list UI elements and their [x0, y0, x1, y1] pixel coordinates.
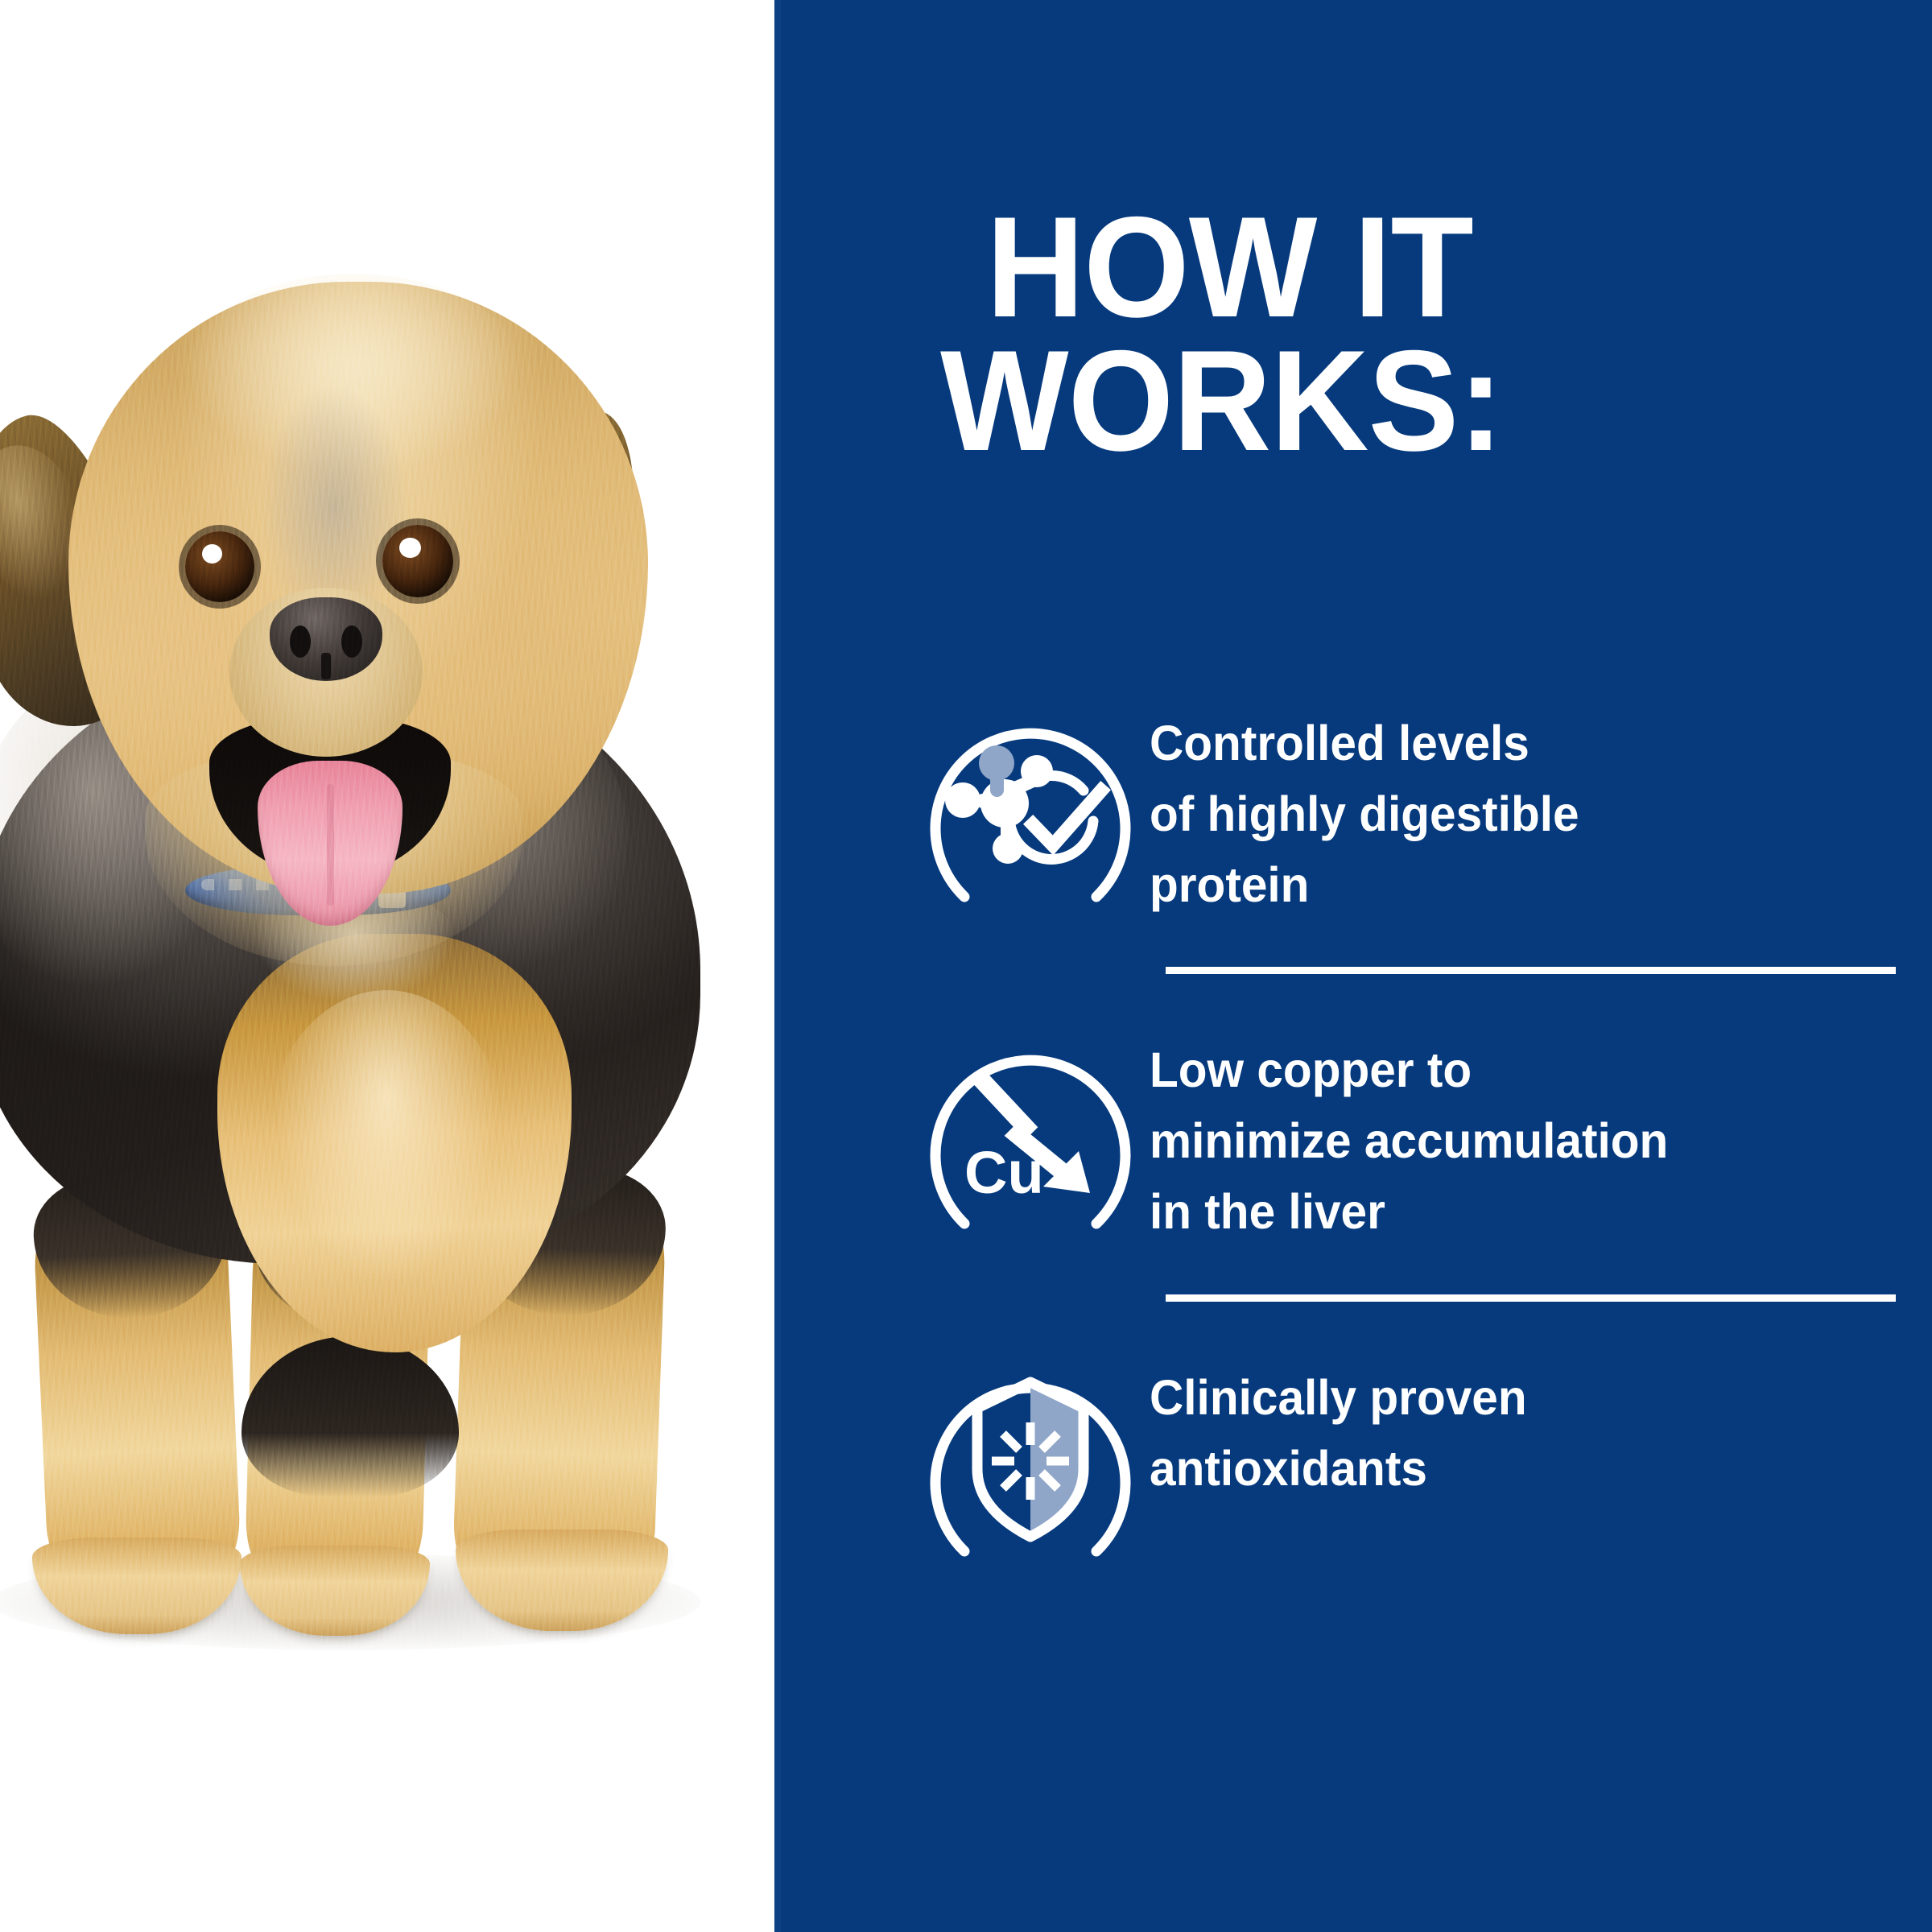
feature-line: minimize accumulation — [1150, 1113, 1668, 1168]
dog-fur-texture — [0, 266, 774, 1843]
page-title: HOW IT WORKS: — [986, 203, 1751, 465]
feature-divider-1 — [1166, 967, 1896, 974]
feature-line: protein — [1150, 857, 1309, 912]
headline-line-1: HOW IT — [986, 203, 1751, 332]
dog-photo-panel — [0, 0, 774, 1932]
feature-text-antioxidants: Clinically proven antioxidants — [1150, 1348, 1877, 1505]
feature-text-protein: Controlled levels of highly digestible p… — [1150, 694, 1877, 920]
feature-line: of highly digestible — [1150, 786, 1579, 841]
copper-down-arrow-icon: Cu — [918, 1021, 1143, 1246]
feature-item-copper: Cu Low copper to minimize accumulation i… — [918, 1021, 1908, 1247]
feature-list: Controlled levels of highly digestible p… — [918, 694, 1908, 1574]
feature-line: antioxidants — [1150, 1441, 1427, 1496]
feature-divider-2 — [1166, 1294, 1896, 1302]
headline-line-2: WORKS: — [940, 336, 1751, 465]
shield-burst-icon — [918, 1348, 1143, 1574]
feature-line: Low copper to — [1150, 1042, 1472, 1097]
feature-line: in the liver — [1150, 1184, 1385, 1239]
svg-text:Cu: Cu — [964, 1139, 1044, 1206]
feature-item-antioxidants: Clinically proven antioxidants — [918, 1348, 1908, 1574]
feature-line: Controlled levels — [1150, 716, 1529, 770]
photo-edge-fade — [753, 0, 774, 1932]
poster-canvas: HOW IT WORKS: — [0, 0, 1932, 1932]
panel-left-edge — [774, 0, 781, 1932]
molecule-check-icon — [918, 694, 1143, 919]
dog-photo — [0, 266, 774, 1843]
feature-line: Clinically proven — [1150, 1370, 1527, 1425]
feature-item-protein: Controlled levels of highly digestible p… — [918, 694, 1908, 920]
feature-text-copper: Low copper to minimize accumulation in t… — [1150, 1021, 1877, 1247]
